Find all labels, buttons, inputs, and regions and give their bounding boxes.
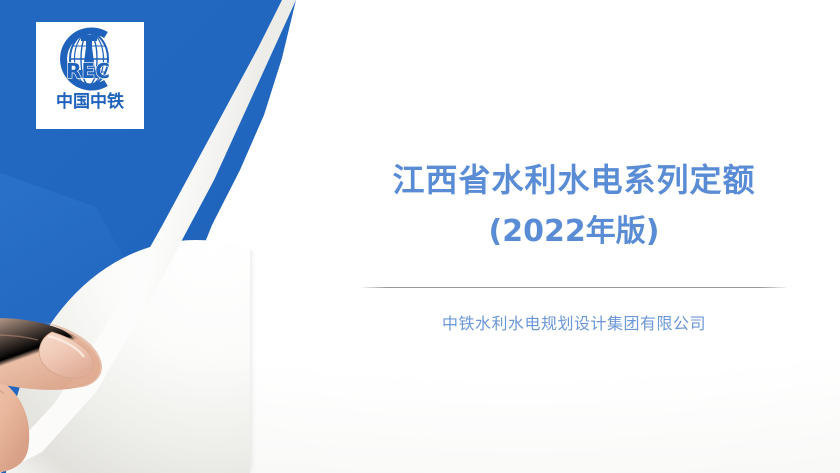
- page-title-edition: (2022年版): [362, 212, 786, 251]
- organization-name: 中铁水利水电规划设计集团有限公司: [362, 310, 786, 334]
- title-text-block: 江西省水利水电系列定额 (2022年版) 中铁水利水电规划设计集团有限公司: [362, 160, 786, 334]
- logo-rec-letters: REC: [66, 59, 110, 83]
- page-title: 江西省水利水电系列定额: [362, 160, 786, 202]
- china-railway-logo: REC 中国中铁: [36, 22, 144, 129]
- logo-wordmark: 中国中铁: [56, 94, 124, 111]
- crec-emblem-icon: REC: [44, 26, 136, 92]
- hand-turning-page-illustration: [0, 258, 168, 473]
- title-divider: [362, 287, 786, 288]
- title-slide: REC 中国中铁 江西省水利水电系列定额 (2022年版) 中铁水利水电规划设计…: [0, 0, 840, 473]
